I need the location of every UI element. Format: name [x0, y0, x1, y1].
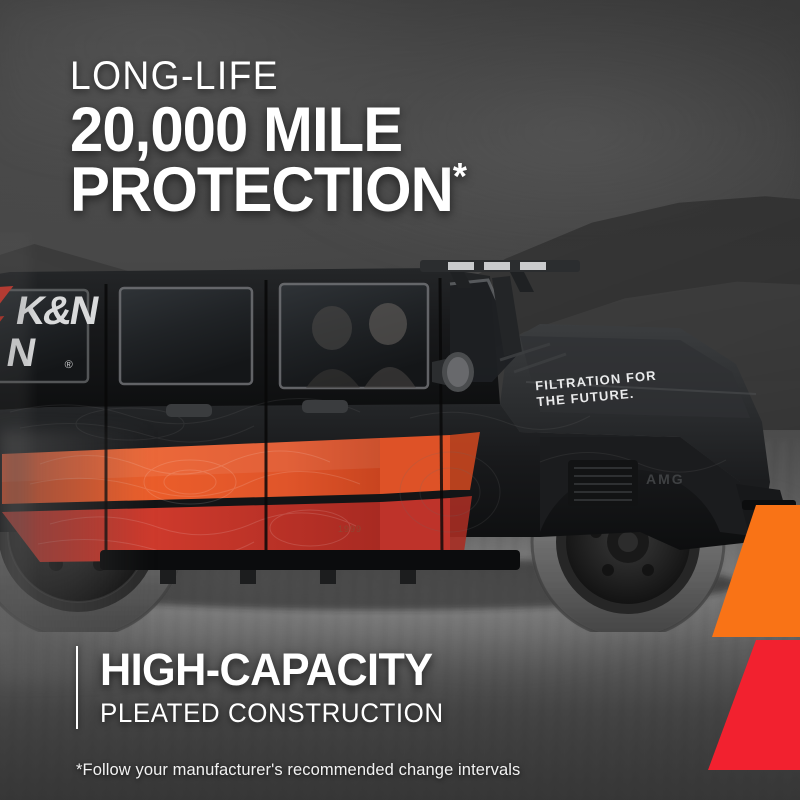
headline-block: LONG-LIFE 20,000 MILE PROTECTION*: [70, 56, 730, 221]
subhead-block: HIGH-CAPACITY PLEATED CONSTRUCTION: [76, 646, 636, 729]
subhead-secondary: PLEATED CONSTRUCTION: [100, 697, 444, 729]
front-door-handle: [302, 400, 348, 413]
accent-chevron-red: [700, 640, 800, 770]
accent-chevron-orange: [700, 505, 800, 637]
rocker-panel: [100, 550, 520, 570]
door-badge: 1999: [338, 524, 362, 534]
fender-badge: AMG: [646, 471, 685, 487]
subhead-text-group: HIGH-CAPACITY PLEATED CONSTRUCTION: [100, 646, 458, 729]
subhead-primary: HIGH-CAPACITY: [100, 647, 444, 693]
left-motion-blur: [0, 232, 30, 632]
kn-logo-registered: ®: [64, 359, 73, 371]
red-parallelogram: [708, 640, 800, 770]
footnote-text: *Follow your manufacturer's recommended …: [76, 761, 520, 780]
headline-asterisk: *: [453, 156, 467, 198]
headline-line-2-text: PROTECTION: [70, 155, 453, 225]
headline-line-2: PROTECTION*: [70, 159, 697, 222]
orange-parallelogram: [712, 505, 800, 637]
advertisement-banner: FILTRATION FOR THE FUTURE. AMG 1999: [0, 0, 800, 800]
eyebrow-text: LONG-LIFE: [70, 56, 684, 96]
headline-line-1: 20,000 MILE: [70, 100, 697, 162]
subhead-divider-rule: [76, 646, 78, 729]
vehicle-illustration: FILTRATION FOR THE FUTURE. AMG 1999: [0, 232, 800, 632]
rear-door-handle: [166, 404, 212, 417]
